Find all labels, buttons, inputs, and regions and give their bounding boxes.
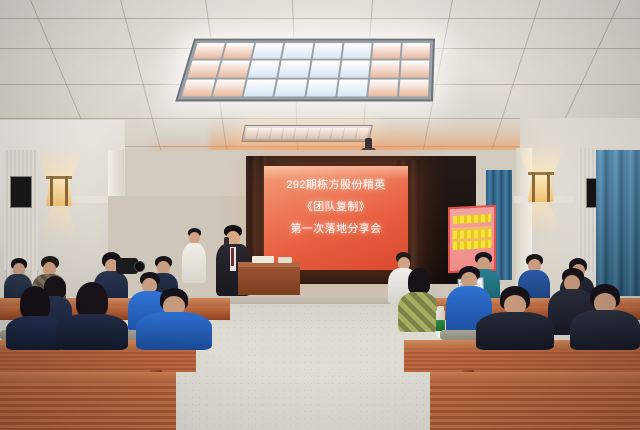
wall-speaker-left — [10, 176, 32, 208]
wall-column-left — [4, 150, 38, 270]
microphone — [224, 237, 229, 248]
screen-text-line-3: 第一次落地分享会 — [290, 220, 381, 236]
water-bottle-cap — [437, 306, 444, 311]
camera-lens — [134, 261, 145, 272]
hair-long — [20, 286, 50, 320]
wall-sconce-left — [46, 176, 72, 206]
attendee — [136, 288, 212, 348]
sconce-bar — [65, 176, 68, 206]
conference-desk — [404, 350, 640, 372]
papers — [278, 257, 292, 263]
screen-text-line-2: 《团队复制》 — [302, 198, 370, 214]
torso — [56, 314, 128, 350]
banner-text-row — [453, 240, 491, 250]
attendee — [570, 284, 640, 348]
sconce-bar — [50, 176, 53, 206]
presenter-table — [238, 267, 300, 295]
sconce-bar — [532, 172, 535, 202]
torso — [570, 310, 640, 350]
conference-room-photo: 292期栋方股份精英 《团队复制》 第一次落地分享会 — [0, 0, 640, 430]
conference-desk — [0, 383, 176, 430]
attendee — [398, 268, 438, 330]
sconce-bar — [547, 172, 550, 202]
screen-text-line-1: 292期栋方股份精英 — [286, 176, 385, 192]
attendee — [56, 282, 128, 348]
attendee — [476, 286, 554, 348]
hair-long — [76, 282, 108, 318]
banner-text-row — [453, 214, 491, 224]
papers — [252, 256, 274, 263]
conference-desk — [0, 350, 196, 372]
projection-screen-text: 292期栋方股份精英 《团队复制》 第一次落地分享会 — [264, 176, 408, 266]
wall-sconce-right — [528, 172, 554, 202]
hair-long — [408, 268, 430, 294]
presenter-standing — [182, 228, 206, 282]
necktie — [231, 248, 234, 266]
torso-plaid — [398, 292, 438, 332]
torso — [476, 312, 554, 350]
conference-desk — [430, 383, 640, 430]
torso — [182, 243, 206, 283]
ceiling-grid-line — [0, 18, 640, 19]
torso-blue-jacket — [136, 312, 212, 350]
ceiling-light-panel-main — [175, 39, 435, 102]
